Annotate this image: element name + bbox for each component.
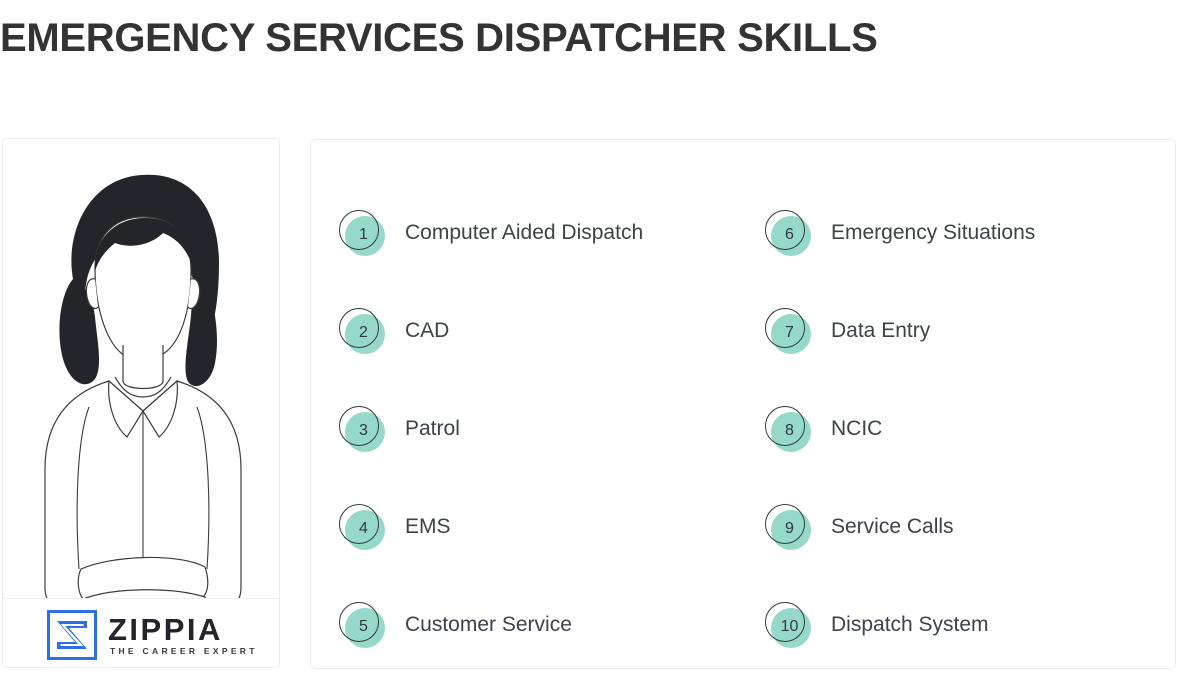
skill-label: EMS xyxy=(405,514,451,540)
list-item[interactable]: 7 Data Entry xyxy=(765,282,1175,380)
list-item[interactable]: 2 CAD xyxy=(339,282,743,380)
badge-number: 5 xyxy=(339,602,385,648)
zippia-z-mark xyxy=(47,610,97,660)
female-dispatcher-illustration xyxy=(3,139,279,667)
skill-label: Emergency Situations xyxy=(831,220,1035,246)
skill-label: Dispatch System xyxy=(831,612,989,638)
badge-number: 4 xyxy=(339,504,385,550)
skill-label: Customer Service xyxy=(405,612,572,638)
badge-number: 9 xyxy=(765,504,811,550)
skill-badge: 2 xyxy=(339,308,385,354)
skill-badge: 10 xyxy=(765,602,811,648)
badge-number: 3 xyxy=(339,406,385,452)
skill-badge: 1 xyxy=(339,210,385,256)
skill-label: CAD xyxy=(405,318,449,344)
badge-number: 8 xyxy=(765,406,811,452)
list-item[interactable]: 8 NCIC xyxy=(765,380,1175,478)
badge-number: 1 xyxy=(339,210,385,256)
skill-badge: 6 xyxy=(765,210,811,256)
list-item[interactable]: 4 EMS xyxy=(339,478,743,576)
list-item[interactable]: 9 Service Calls xyxy=(765,478,1175,576)
list-item[interactable]: 3 Patrol xyxy=(339,380,743,478)
badge-number: 7 xyxy=(765,308,811,354)
skills-columns: 1 Computer Aided Dispatch 2 CAD 3 Patro xyxy=(311,140,1175,668)
list-item[interactable]: 6 Emergency Situations xyxy=(765,184,1175,282)
list-item[interactable]: 5 Customer Service xyxy=(339,576,743,674)
badge-number: 6 xyxy=(765,210,811,256)
skill-label: Patrol xyxy=(405,416,460,442)
badge-number: 2 xyxy=(339,308,385,354)
skill-label: Data Entry xyxy=(831,318,930,344)
skills-column-left: 1 Computer Aided Dispatch 2 CAD 3 Patro xyxy=(311,140,743,668)
list-item[interactable]: 10 Dispatch System xyxy=(765,576,1175,674)
skill-badge: 5 xyxy=(339,602,385,648)
zippia-wordmark: ZIPPIA xyxy=(108,615,258,645)
skills-column-right: 6 Emergency Situations 7 Data Entry 8 N xyxy=(743,140,1175,668)
badge-number: 10 xyxy=(765,602,811,648)
list-item[interactable]: 1 Computer Aided Dispatch xyxy=(339,184,743,282)
skill-badge: 9 xyxy=(765,504,811,550)
zippia-logo[interactable]: ZIPPIA THE CAREER EXPERT xyxy=(47,610,258,660)
skill-badge: 3 xyxy=(339,406,385,452)
illustration-panel: ZIPPIA THE CAREER EXPERT xyxy=(2,138,280,668)
skill-label: Computer Aided Dispatch xyxy=(405,220,643,246)
skill-badge: 8 xyxy=(765,406,811,452)
skill-badge: 4 xyxy=(339,504,385,550)
skill-badge: 7 xyxy=(765,308,811,354)
page-title: EMERGENCY SERVICES DISPATCHER SKILLS xyxy=(0,14,1190,62)
skills-panel: 1 Computer Aided Dispatch 2 CAD 3 Patro xyxy=(310,139,1176,669)
zippia-tagline: THE CAREER EXPERT xyxy=(108,645,258,658)
skill-label: Service Calls xyxy=(831,514,954,540)
skill-label: NCIC xyxy=(831,416,882,442)
